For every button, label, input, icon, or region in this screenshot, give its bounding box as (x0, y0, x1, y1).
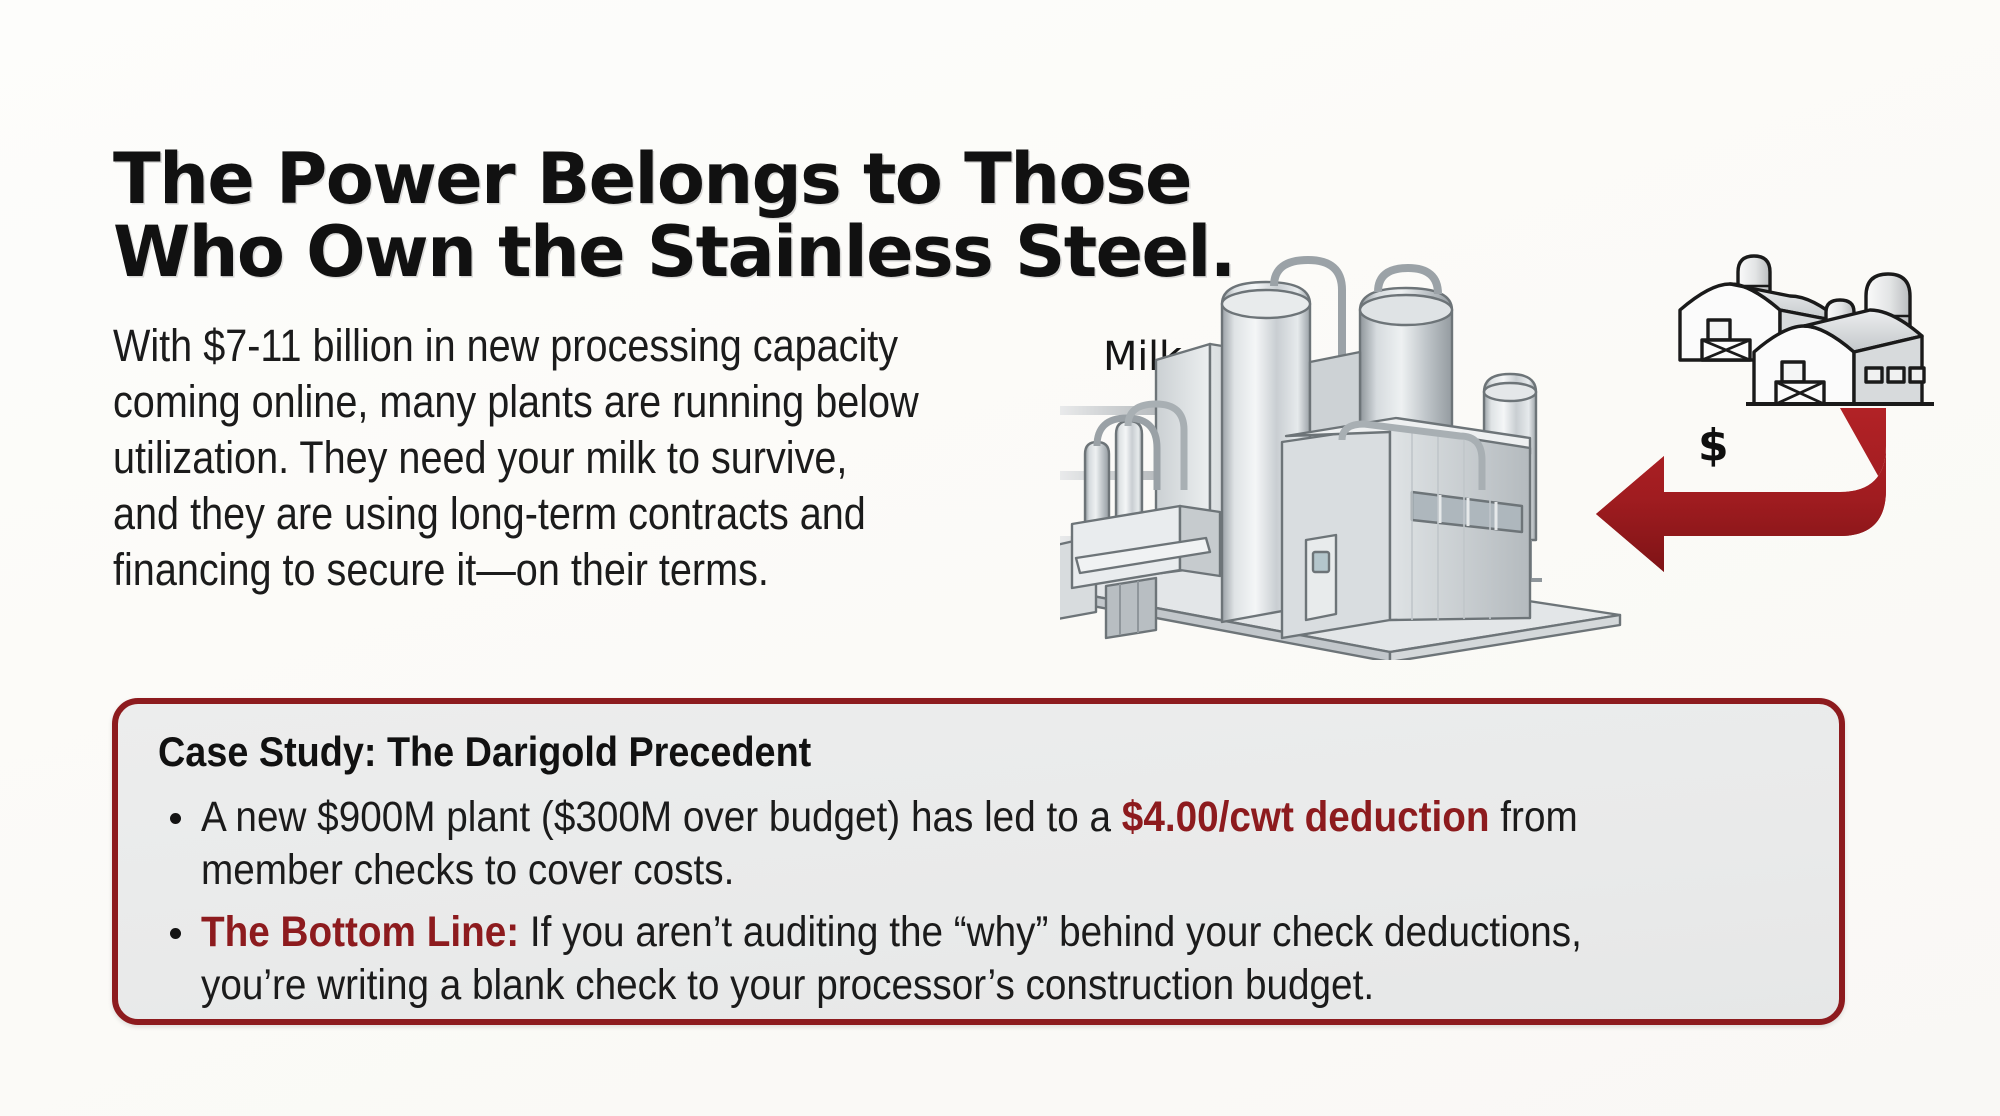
case-study-callout: Case Study: The Darigold Precedent A new… (112, 698, 1845, 1025)
list-item: A new $900M plant ($300M over budget) ha… (158, 791, 1799, 897)
bottom-line-lead: The Bottom Line: (201, 908, 519, 956)
deduction-amount: $4.00/cwt deduction (1122, 793, 1490, 841)
lede-line-3: utilization. They need your milk to surv… (113, 430, 958, 486)
bullet-2-post: If you aren’t auditing the “why” behind … (519, 908, 1582, 956)
lede-line-1: With $7-11 billion in new processing cap… (113, 318, 958, 374)
bullet-text: The Bottom Line: If you aren’t auditing … (201, 906, 1639, 1012)
callout-title: Case Study: The Darigold Precedent (158, 730, 1635, 774)
processing-plant-icon (1060, 260, 1620, 660)
headline-line-1: The Power Belongs to Those (113, 143, 1383, 216)
lede-line-4: and they are using long-term contracts a… (113, 486, 958, 542)
bullet-1-post: from (1490, 793, 1578, 841)
money-flow-arrow (1596, 408, 1886, 572)
bullet-1-line-1: A new $900M plant ($300M over budget) ha… (201, 791, 1639, 844)
bullet-1-pre: A new $900M plant ($300M over budget) ha… (201, 793, 1122, 841)
bullet-text: A new $900M plant ($300M over budget) ha… (201, 791, 1639, 897)
supply-chain-illustration: Milk (1060, 240, 1940, 660)
bullet-2-line-2: you’re writing a blank check to your pro… (201, 959, 1639, 1012)
bullet-dot-icon (170, 928, 181, 939)
bullet-2-line-1: The Bottom Line: If you aren’t auditing … (201, 906, 1639, 959)
lede-paragraph: With $7-11 billion in new processing cap… (113, 318, 958, 598)
illustration-graphic: $ (1060, 240, 1940, 660)
farm-icon (1680, 256, 1934, 404)
lede-line-2: coming online, many plants are running b… (113, 374, 958, 430)
dollar-sign-label: $ (1698, 420, 1729, 471)
list-item: The Bottom Line: If you aren’t auditing … (158, 906, 1799, 1012)
bullet-dot-icon (170, 813, 181, 824)
lede-line-5: financing to secure it—on their terms. (113, 542, 958, 598)
bullet-1-line-2: member checks to cover costs. (201, 844, 1639, 897)
slide-canvas: The Power Belongs to Those Who Own the S… (0, 0, 2000, 1116)
